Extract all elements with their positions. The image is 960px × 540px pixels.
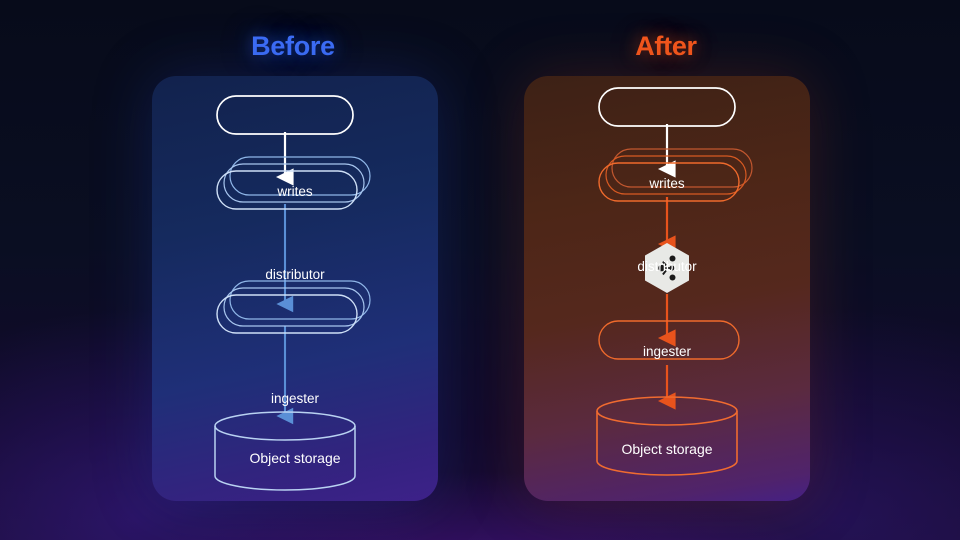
node-object-storage <box>215 412 355 490</box>
node-distributor-stack-layer-3 <box>612 149 752 187</box>
node-writes <box>217 96 353 134</box>
node-distributor <box>217 171 357 209</box>
panel-title-before: Before <box>143 28 443 64</box>
node-writes <box>599 88 735 126</box>
node-ingester-stack-layer-2 <box>224 288 364 326</box>
node-distributor <box>599 163 739 201</box>
node-ingester <box>599 321 739 359</box>
kafka-icon <box>643 242 691 294</box>
panel-before: writes distributor ingester Object stora… <box>152 76 438 501</box>
panel-after: writes distributor ingester Object stora… <box>524 76 810 501</box>
node-distributor-stack-layer-2 <box>224 164 364 202</box>
node-distributor-stack-layer-2 <box>606 156 746 194</box>
node-distributor-stack-layer-3 <box>230 157 370 195</box>
node-ingester <box>217 295 357 333</box>
before-flow-graphics <box>152 76 438 501</box>
diagram-canvas: Before After <box>0 0 960 540</box>
panel-title-after: After <box>516 28 816 64</box>
node-object-storage <box>597 397 737 475</box>
node-ingester-stack-layer-3 <box>230 281 370 319</box>
